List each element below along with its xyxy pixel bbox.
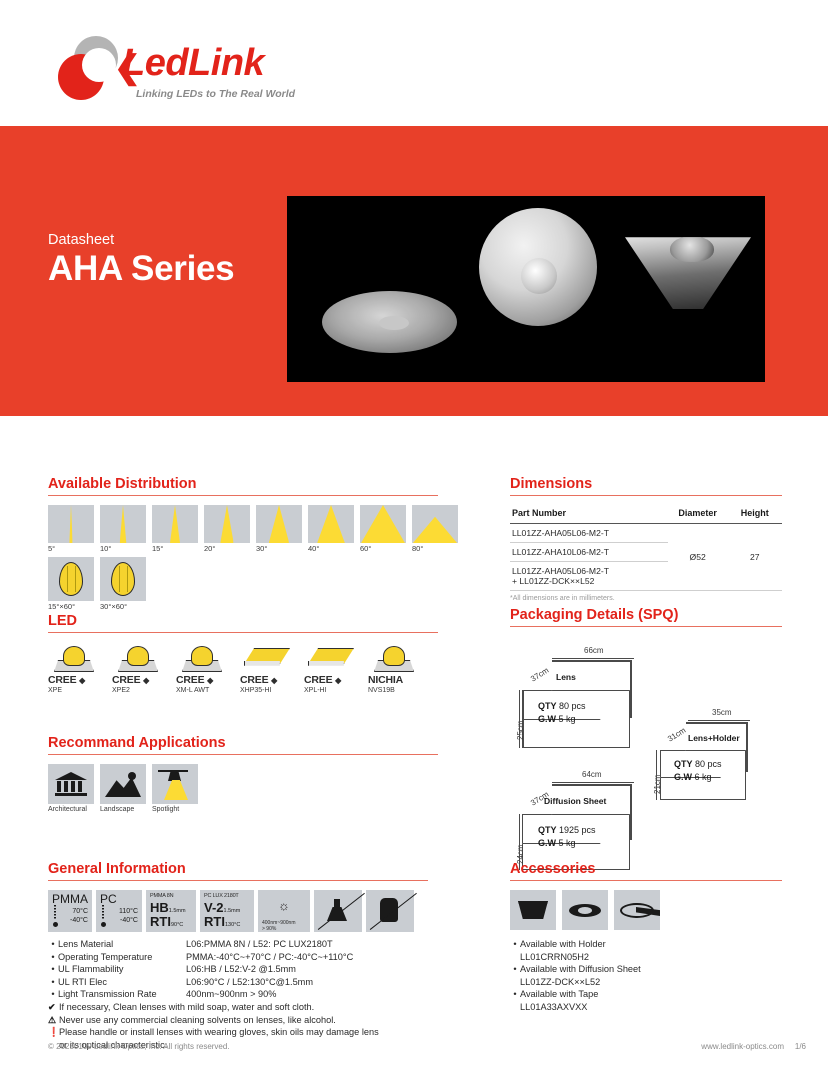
- led-brand: CREE ◆: [240, 674, 298, 686]
- spec-value: L06:90°C / L52:130°C@1.5mm: [186, 977, 313, 987]
- led-section: LED CREE ◆XPECREE ◆XPE2CREE ◆XM-L AWTCRE…: [48, 613, 438, 694]
- note-row: ✔If necessary, Clean lenses with mild so…: [48, 1001, 428, 1014]
- cell-part-line1: LL01ZZ-AHA05L06-M2-T: [512, 566, 666, 576]
- led-heading: LED: [48, 613, 438, 632]
- qty-value: 1925 pcs: [559, 825, 596, 835]
- note-row: ⚠Never use any commercial cleaning solve…: [48, 1014, 428, 1027]
- general-information-section: General Information PMMA 70°C -40°C PC 1…: [48, 861, 428, 1051]
- application-label: Landscape: [100, 806, 146, 813]
- distribution-label: 15°×60°: [48, 602, 94, 611]
- package-depth-label: 37cm: [529, 666, 550, 684]
- led-list: CREE ◆XPECREE ◆XPE2CREE ◆XM-L AWTCREE ◆X…: [48, 642, 438, 694]
- distribution-label: 15°: [152, 544, 198, 553]
- package-width-label: 66cm: [584, 646, 604, 655]
- check-icon: ✔: [48, 1001, 59, 1014]
- accessory-item: •Available with HolderLL01CRRN05H2: [510, 938, 782, 963]
- spec-key: Lens Material: [58, 938, 186, 951]
- package-name: Lens: [556, 672, 576, 682]
- led-brand: NICHIA: [368, 674, 426, 686]
- badge-transmission: ☼ 400nm~900nm > 90%: [258, 890, 310, 932]
- brand-logo: ❮ LedLink Linking LEDs to The Real World: [48, 34, 348, 114]
- accessories-section: Accessories •Available with HolderLL01CR…: [510, 861, 782, 1014]
- spotlight-icon: [152, 764, 198, 804]
- packaging-diagram: Lens QTY 80 pcs G.W 5 kg 66cm 37cm 25cm …: [510, 636, 782, 868]
- spec-row: •Light Transmission Rate400nm~900nm > 90…: [48, 988, 428, 1001]
- distribution-heading: Available Distribution: [48, 476, 438, 495]
- cell-diameter: Ø52: [668, 524, 728, 591]
- table-header-row: Part Number Diameter Height: [510, 505, 782, 524]
- spec-row: •UL FlammabilityL06:HB / L52:V-2 @1.5mm: [48, 963, 428, 976]
- website-link[interactable]: www.ledlink-optics.com: [701, 1042, 784, 1051]
- spec-key: Operating Temperature: [58, 951, 186, 964]
- clear-lens-product: [625, 231, 751, 309]
- spec-key: UL Flammability: [58, 963, 186, 976]
- spec-row: •UL RTI ElecL06:90°C / L52:130°C@1.5mm: [48, 976, 428, 989]
- accessory-item: •Available with TapeLL01A33AXVXX: [510, 988, 782, 1013]
- led-part: XHP35-HI: [240, 687, 298, 694]
- application-label: Spotlight: [152, 806, 198, 813]
- accessory-part: LL01CRRN05H2: [520, 952, 589, 962]
- led-item: NICHIANVS19B: [368, 642, 426, 694]
- accessories-icons: [510, 890, 782, 930]
- led-dome-icon: [54, 646, 94, 672]
- frosted-lens-product: [479, 208, 597, 326]
- package-width-label: 35cm: [712, 708, 732, 717]
- cell-height: 27: [728, 524, 782, 591]
- accessory-label: Available with Diffusion Sheet: [520, 964, 641, 974]
- accessory-label: Available with Tape: [520, 989, 598, 999]
- table-row: LL01ZZ-AHA05L06-M2-T Ø52 27: [510, 524, 782, 543]
- distribution-swatch: 80°: [412, 505, 458, 553]
- dimensions-table: Part Number Diameter Height LL01ZZ-AHA05…: [510, 505, 782, 591]
- led-brand: CREE ◆: [176, 674, 234, 686]
- distribution-label: 20°: [204, 544, 250, 553]
- cell-part-number: LL01ZZ-AHA10L06-M2-T: [510, 543, 668, 562]
- info-icon: ❗: [48, 1026, 59, 1039]
- logo-wordmark: LedLink: [122, 44, 264, 82]
- badge-material: PMMA: [52, 893, 88, 905]
- cell-part-number: LL01ZZ-AHA05L06-M2-T + LL01ZZ-DCK××L52: [510, 562, 668, 591]
- spec-value: PMMA:-40°C~+70°C / PC:-40°C~+110°C: [186, 952, 353, 962]
- distribution-label: 10°: [100, 544, 146, 553]
- sun-icon: [128, 772, 136, 780]
- led-brand: CREE ◆: [304, 674, 362, 686]
- led-item: CREE ◆XPL-HI: [304, 642, 362, 694]
- led-dome-icon: [118, 646, 158, 672]
- qty-label: QTY: [538, 825, 557, 835]
- distribution-swatch: 30°: [256, 505, 302, 553]
- distribution-swatch: 40°: [308, 505, 354, 553]
- led-item: CREE ◆XPE2: [112, 642, 170, 694]
- badge-no-solvent: [314, 890, 362, 932]
- package-width-label: 64cm: [582, 770, 602, 779]
- distribution-row-primary: 5°10°15°20°30°40°60°80°: [48, 505, 438, 553]
- qty-label: QTY: [674, 759, 693, 769]
- transmission-value: > 90%: [262, 926, 306, 932]
- led-part: XM-L AWT: [176, 687, 234, 694]
- page-title: AHA Series: [48, 249, 234, 289]
- spec-key: Light Transmission Rate: [58, 988, 186, 1001]
- distribution-label: 40°: [308, 544, 354, 553]
- badge-rating: V-2: [204, 900, 224, 915]
- distribution-swatch: 60°: [360, 505, 406, 553]
- badge-header: PC LUX 2180T: [204, 893, 250, 899]
- packaging-section: Packaging Details (SPQ) Lens QTY 80 pcs …: [510, 607, 782, 868]
- col-part-number: Part Number: [510, 505, 668, 524]
- led-item: CREE ◆XHP35-HI: [240, 642, 298, 694]
- distribution-label: 60°: [360, 544, 406, 553]
- logo-mark-icon: [58, 36, 120, 98]
- gw-label: G.W: [538, 838, 556, 848]
- logo-tagline: Linking LEDs to The Real World: [136, 88, 295, 100]
- badge-ul-pc: PC LUX 2180T V-21.5mm RTI130°C: [200, 890, 254, 932]
- led-dome-icon: [374, 646, 414, 672]
- distribution-label: 30°: [256, 544, 302, 553]
- badge-header: PMMA 8N: [150, 893, 192, 899]
- led-part: XPE: [48, 687, 106, 694]
- cell-part-number: LL01ZZ-AHA05L06-M2-T: [510, 524, 668, 543]
- badge-rating-sub: 1.5mm: [169, 908, 186, 914]
- gw-label: G.W: [538, 714, 556, 724]
- note-text: Never use any commercial cleaning solven…: [59, 1015, 336, 1025]
- bullet-icon: •: [48, 938, 58, 951]
- gw-value: 5 kg: [559, 714, 576, 724]
- led-dome-icon: [182, 646, 222, 672]
- tape-icon: [614, 890, 660, 930]
- cell-part-line2: + LL01ZZ-DCK××L52: [512, 576, 666, 586]
- col-height: Height: [728, 505, 782, 524]
- led-item: CREE ◆XPE: [48, 642, 106, 694]
- applications-list: Architectural Landscape Spotlight: [48, 764, 438, 813]
- led-part: XPE2: [112, 687, 170, 694]
- distribution-swatch: 10°: [100, 505, 146, 553]
- warning-icon: ⚠: [48, 1014, 59, 1027]
- distribution-label: 30°×60°: [100, 602, 146, 611]
- badge-pc: PC 110°C -40°C: [96, 890, 142, 932]
- spec-value: L06:HB / L52:V-2 @1.5mm: [186, 964, 296, 974]
- badge-ul-pmma: PMMA 8N HB1.5mm RTI90°C: [146, 890, 196, 932]
- bullet-icon: •: [48, 988, 58, 1001]
- badge-rti: RTI: [204, 914, 225, 929]
- badge-material: PC: [100, 893, 138, 905]
- sun-icon: ☼: [262, 899, 306, 912]
- package-height-label: 25cm: [516, 720, 525, 740]
- accessories-list: •Available with HolderLL01CRRN05H2•Avail…: [510, 938, 782, 1014]
- led-item: CREE ◆XM-L AWT: [176, 642, 234, 694]
- application-architectural: Architectural: [48, 764, 94, 813]
- dimensions-heading: Dimensions: [510, 476, 782, 495]
- led-flat-icon: [244, 648, 290, 670]
- gw-value: 5 kg: [559, 838, 576, 848]
- spec-value: 400nm~900nm > 90%: [186, 989, 276, 999]
- spec-value: L06:PMMA 8N / L52: PC LUX2180T: [186, 939, 333, 949]
- material-badges: PMMA 70°C -40°C PC 110°C -40°C PMMA 8N H…: [48, 890, 428, 932]
- spec-list: •Lens MaterialL06:PMMA 8N / L52: PC LUX2…: [48, 938, 428, 1001]
- distribution-swatch: 15°: [152, 505, 198, 553]
- gw-label: G.W: [674, 772, 692, 782]
- application-label: Architectural: [48, 806, 94, 813]
- accessory-label: Available with Holder: [520, 939, 606, 949]
- packaging-heading: Packaging Details (SPQ): [510, 607, 782, 626]
- bullet-icon: •: [510, 938, 520, 951]
- accessory-item: •Available with Diffusion SheetLL01ZZ-DC…: [510, 963, 782, 988]
- badge-rti-sub: 90°C: [171, 922, 183, 928]
- badge-rating-sub: 1.5mm: [224, 908, 241, 914]
- col-diameter: Diameter: [668, 505, 728, 524]
- package-name: Diffusion Sheet: [544, 796, 606, 806]
- distribution-label: 80°: [412, 544, 458, 553]
- general-heading: General Information: [48, 861, 428, 880]
- led-brand: CREE ◆: [112, 674, 170, 686]
- accessory-part: LL01ZZ-DCK××L52: [520, 977, 600, 987]
- thermometer-icon: [53, 905, 58, 927]
- distribution-row-elliptical: 15°×60°30°×60°: [48, 557, 438, 611]
- spec-key: UL RTI Elec: [58, 976, 186, 989]
- bullet-icon: •: [510, 963, 520, 976]
- note-row: ❗Please handle or install lenses with we…: [48, 1026, 428, 1039]
- dimensions-note: *All dimensions are in millimeters.: [510, 595, 782, 602]
- note-text: Please handle or install lenses with wea…: [59, 1027, 379, 1037]
- dimensions-section: Dimensions Part Number Diameter Height L…: [510, 476, 782, 602]
- page-number: 1/6: [795, 1042, 806, 1051]
- badge-rating: HB: [150, 900, 169, 915]
- led-part: NVS19B: [368, 687, 426, 694]
- qty-label: QTY: [538, 701, 557, 711]
- package-name: Lens+Holder: [688, 733, 740, 743]
- gw-value: 6 kg: [695, 772, 712, 782]
- badge-rti-sub: 130°C: [225, 922, 240, 928]
- badge-rti: RTI: [150, 914, 171, 929]
- application-landscape: Landscape: [100, 764, 146, 813]
- thermometer-icon: [101, 905, 106, 927]
- led-brand: CREE ◆: [48, 674, 106, 686]
- distribution-swatch-elliptical: 15°×60°: [48, 557, 94, 611]
- distribution-section: Available Distribution 5°10°15°20°30°40°…: [48, 476, 438, 613]
- hero-kicker: Datasheet: [48, 232, 114, 248]
- spec-row: •Operating TemperaturePMMA:-40°C~+70°C /…: [48, 951, 428, 964]
- qty-value: 80 pcs: [559, 701, 586, 711]
- distribution-label: 5°: [48, 544, 94, 553]
- qty-value: 80 pcs: [695, 759, 722, 769]
- bullet-icon: •: [48, 963, 58, 976]
- accessory-part: LL01A33AXVXX: [520, 1002, 587, 1012]
- led-part: XPL-HI: [304, 687, 362, 694]
- distribution-swatch: 5°: [48, 505, 94, 553]
- diffusion-sheet-product: [322, 291, 457, 353]
- bullet-icon: •: [510, 988, 520, 1001]
- bullet-icon: •: [48, 951, 58, 964]
- holder-icon: [510, 890, 556, 930]
- accessories-heading: Accessories: [510, 861, 782, 880]
- distribution-swatch: 20°: [204, 505, 250, 553]
- led-flat-icon: [308, 648, 354, 670]
- distribution-swatch-elliptical: 30°×60°: [100, 557, 146, 611]
- copyright-text: © 20250109 Ledlink Optics, Inc. All righ…: [48, 1042, 230, 1051]
- badge-no-bare-hand: [366, 890, 414, 932]
- diffusion-sheet-icon: [562, 890, 608, 930]
- package-depth-label: 31cm: [666, 726, 687, 744]
- applications-heading: Recommand Applications: [48, 735, 438, 754]
- note-text: If necessary, Clean lenses with mild soa…: [59, 1002, 314, 1012]
- applications-section: Recommand Applications Architectural Lan…: [48, 735, 438, 813]
- page-footer: © 20250109 Ledlink Optics, Inc. All righ…: [0, 1039, 828, 1061]
- badge-pmma: PMMA 70°C -40°C: [48, 890, 92, 932]
- product-photo: [287, 196, 765, 382]
- spec-row: •Lens MaterialL06:PMMA 8N / L52: PC LUX2…: [48, 938, 428, 951]
- application-spotlight: Spotlight: [152, 764, 198, 813]
- temple-icon: [55, 772, 87, 796]
- bullet-icon: •: [48, 976, 58, 989]
